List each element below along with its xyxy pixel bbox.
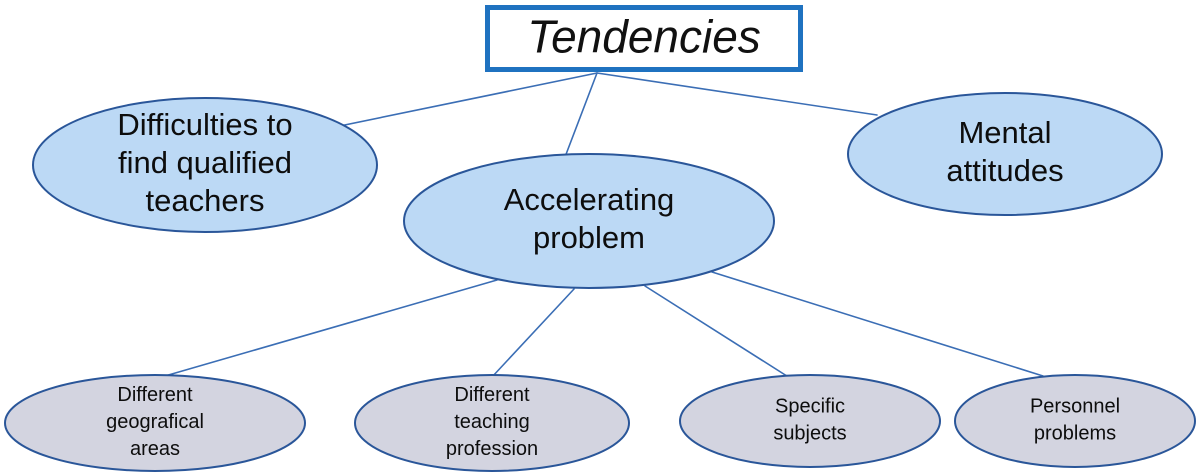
concept-map-diagram: Differentgeograficalareas Differentteach… (0, 0, 1200, 474)
level1-node-accelerating[interactable]: Acceleratingproblem (404, 154, 774, 288)
level1-node-difficulties[interactable]: Difficulties tofind qualifiedteachers (33, 98, 377, 232)
leaf-node-group: Differentgeograficalareas Differentteach… (5, 375, 1195, 471)
page-title: Tendencies (527, 11, 761, 63)
leaf-label: Differentteachingprofession (446, 384, 538, 460)
level1-node-mental[interactable]: Mentalattitudes (848, 93, 1162, 215)
leaf-node-personnel-problems[interactable]: Personnelproblems (955, 375, 1195, 467)
connector-accelerating-to-geografical-areas (158, 280, 497, 378)
diagram-canvas: Differentgeograficalareas Differentteach… (0, 0, 1200, 474)
leaf-node-teaching-profession[interactable]: Differentteachingprofession (355, 375, 629, 471)
title-box[interactable]: Tendencies (488, 8, 801, 70)
leaf-ellipse (680, 375, 940, 467)
level1-node-group: Difficulties tofind qualifiedteachers Ac… (33, 93, 1162, 288)
leaf-node-geografical-areas[interactable]: Differentgeograficalareas (5, 375, 305, 471)
connector-title-to-mental (597, 73, 877, 115)
connector-accelerating-to-specific-subjects (645, 286, 790, 378)
connector-accelerating-to-teaching-profession (492, 289, 574, 377)
connector-title-to-difficulties (330, 73, 597, 128)
connector-title-to-accelerating (565, 73, 597, 157)
leaf-ellipse (955, 375, 1195, 467)
leaf-node-specific-subjects[interactable]: Specificsubjects (680, 375, 940, 467)
